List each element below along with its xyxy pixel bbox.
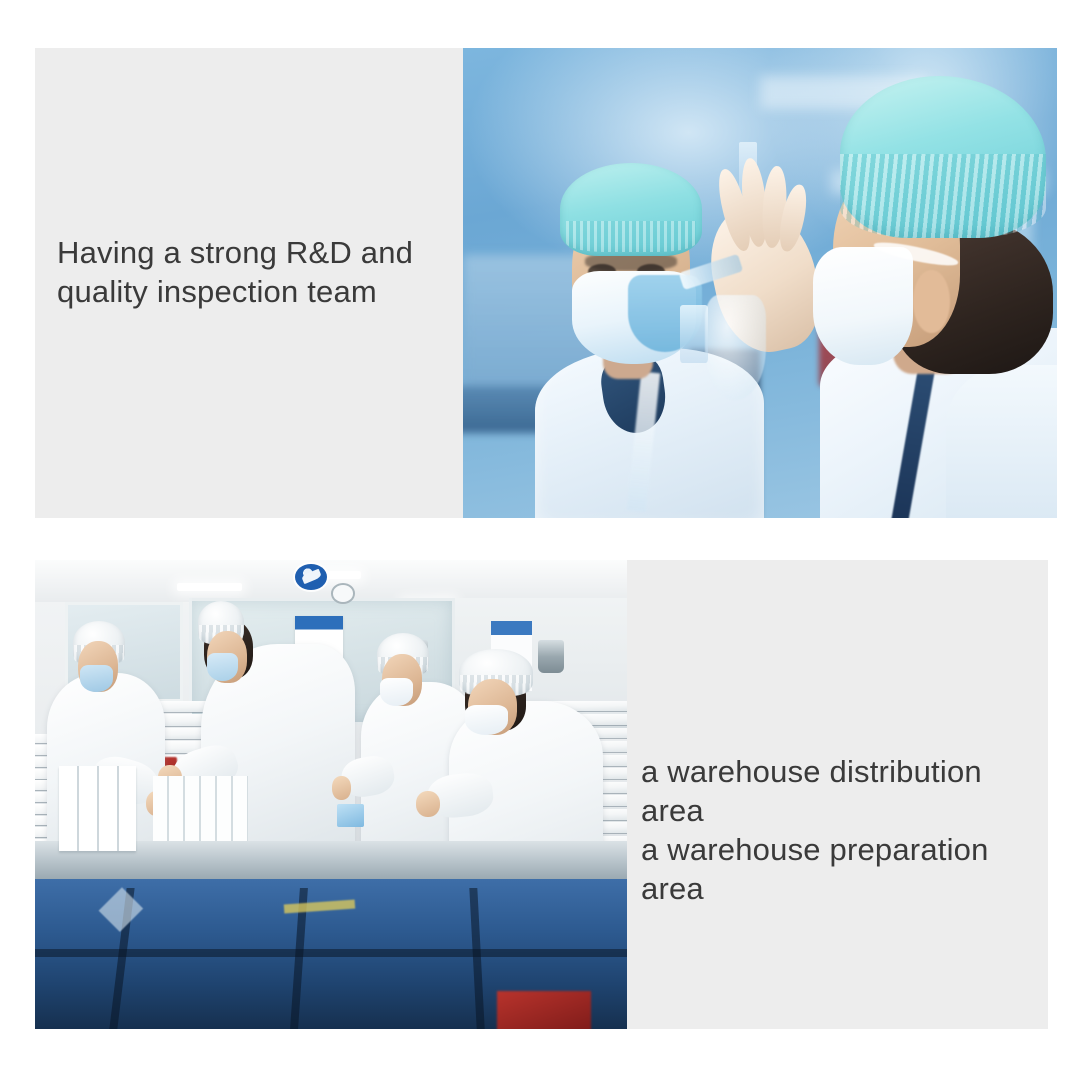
photo-lab-inspection [463,48,1057,518]
carton-row [59,766,136,850]
lab-scene [463,48,1057,518]
lab-coat-shoulder [946,365,1057,518]
worker-hand [332,776,351,800]
stainless-container [538,640,564,673]
section-warehouse: a warehouse distribution area a warehous… [35,560,1048,1029]
face-mask [80,665,113,693]
face-mask [465,705,508,735]
worker-hand [416,791,441,817]
photo-warehouse-packing [35,560,627,1029]
lab-worker-profile [760,67,1057,518]
glass-flask [705,295,767,400]
caption-rnd-quality: Having a strong R&D and quality inspecti… [57,233,457,311]
page-root: Having a strong R&D and quality inspecti… [0,0,1080,1080]
red-bin [497,991,592,1029]
face-mask [380,678,413,706]
caption-warehouse: a warehouse distribution area a warehous… [641,752,1051,908]
ceiling-light [177,583,242,591]
table-rail [35,949,627,957]
face-mask [813,247,913,364]
caption-panel-bottom: a warehouse distribution area a warehous… [627,560,1048,1029]
section-rnd-quality: Having a strong R&D and quality inspecti… [35,48,1057,518]
beaker [680,305,708,363]
hair-net-cap [840,76,1046,238]
blue-carton [337,804,364,827]
face-mask [207,653,238,681]
caption-panel-top: Having a strong R&D and quality inspecti… [35,48,463,518]
carton-row [153,776,248,851]
worker-ear [913,270,950,333]
warehouse-scene [35,560,627,1029]
